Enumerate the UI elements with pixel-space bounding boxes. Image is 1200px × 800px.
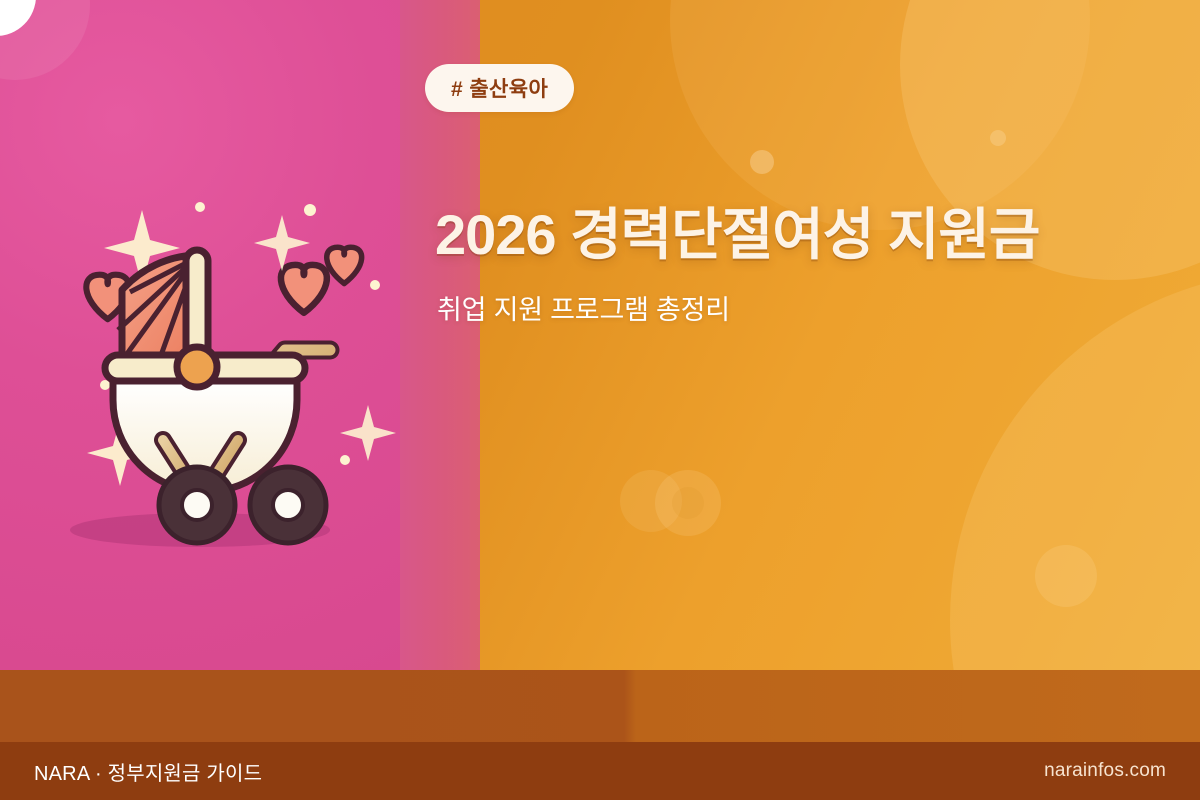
sparkle-dot-icon bbox=[195, 202, 205, 212]
illustration-panel bbox=[0, 0, 400, 670]
sparkle-top-center-icon bbox=[254, 215, 310, 271]
sparkle-dot-icon bbox=[304, 204, 316, 216]
heart-center-icon bbox=[281, 265, 327, 313]
footer-site-url[interactable]: narainfos.com bbox=[1044, 760, 1166, 782]
stroller-hub bbox=[177, 347, 217, 387]
heart-right-icon bbox=[327, 247, 362, 283]
sparkle-bottom-right-icon bbox=[340, 405, 396, 461]
page-title: 2026 경력단절여성 지원금 bbox=[435, 190, 1039, 271]
footer-brand: NARA · 정부지원금 가이드 bbox=[34, 757, 262, 786]
stroller-wheel-right bbox=[250, 467, 326, 543]
sparkle-dot-icon bbox=[370, 280, 380, 290]
promo-card: # 출산육아 2026 경력단절여성 지원금 취업 지원 프로그램 총정리 NA… bbox=[0, 0, 1200, 800]
footer: NARA · 정부지원금 가이드 narainfos.com bbox=[0, 742, 1200, 800]
category-badge[interactable]: # 출산육아 bbox=[425, 64, 574, 112]
baby-stroller-illustration bbox=[0, 0, 400, 670]
headline-block: # 출산육아 2026 경력단절여성 지원금 취업 지원 프로그램 총정리 bbox=[425, 0, 1185, 670]
sparkle-dot-icon bbox=[340, 455, 350, 465]
page-subtitle: 취업 지원 프로그램 총정리 bbox=[437, 288, 730, 327]
accent-band-left bbox=[0, 670, 400, 742]
stroller-wheel-left bbox=[159, 467, 235, 543]
